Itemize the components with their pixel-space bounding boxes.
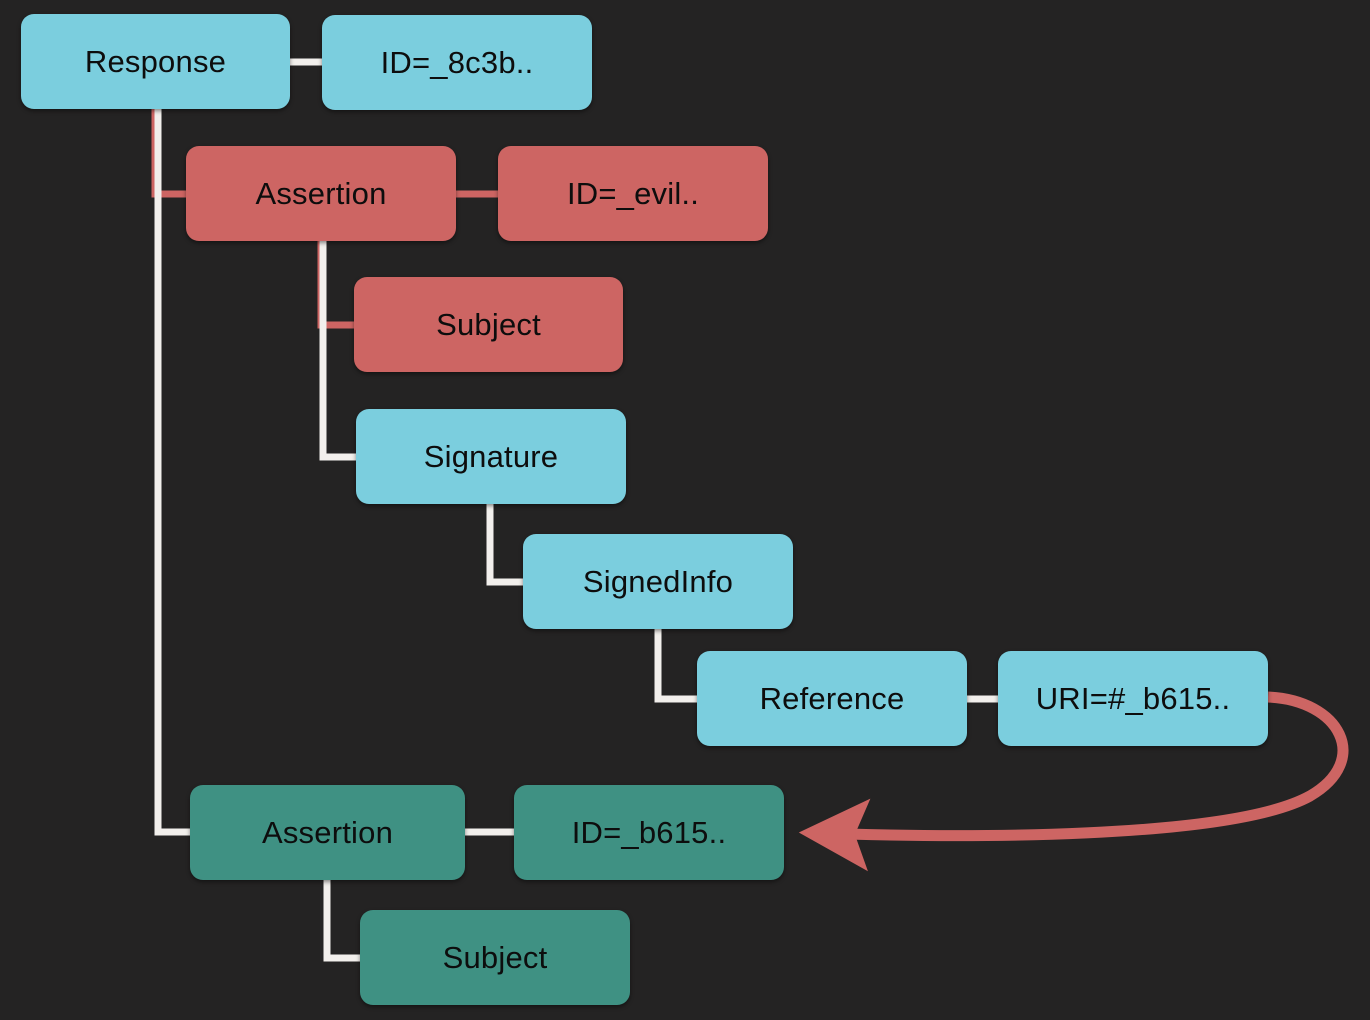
node-response_id[interactable]: ID=_8c3b.. bbox=[322, 15, 592, 110]
node-label-response: Response bbox=[85, 46, 226, 77]
node-subject_evil[interactable]: Subject bbox=[354, 277, 623, 372]
node-reference[interactable]: Reference bbox=[697, 651, 967, 746]
edge-assertion_evil-to-subject bbox=[321, 241, 354, 325]
node-signature[interactable]: Signature bbox=[356, 409, 626, 504]
node-label-response_id: ID=_8c3b.. bbox=[381, 47, 534, 78]
node-response[interactable]: Response bbox=[21, 14, 290, 109]
node-label-signature: Signature bbox=[424, 441, 559, 472]
node-assertion_good_id[interactable]: ID=_b615.. bbox=[514, 785, 784, 880]
node-label-signedinfo: SignedInfo bbox=[583, 566, 733, 597]
node-uri[interactable]: URI=#_b615.. bbox=[998, 651, 1268, 746]
node-subject_good[interactable]: Subject bbox=[360, 910, 630, 1005]
edge-signedinfo-to-reference bbox=[658, 629, 697, 699]
node-signedinfo[interactable]: SignedInfo bbox=[523, 534, 793, 629]
edge-response-to-assertion_evil bbox=[155, 109, 186, 194]
node-label-assertion_evil_id: ID=_evil.. bbox=[567, 178, 699, 209]
node-label-subject_evil: Subject bbox=[436, 309, 541, 340]
node-label-assertion_good_id: ID=_b615.. bbox=[572, 817, 727, 848]
diagram-canvas: ResponseID=_8c3b..AssertionID=_evil..Sub… bbox=[0, 0, 1370, 1020]
edge-assertion_good-to-subject bbox=[327, 880, 360, 958]
node-label-uri: URI=#_b615.. bbox=[1036, 683, 1231, 714]
node-assertion_good[interactable]: Assertion bbox=[190, 785, 465, 880]
node-assertion_evil_id[interactable]: ID=_evil.. bbox=[498, 146, 768, 241]
edge-assertion_evil-to-signature bbox=[323, 241, 356, 457]
node-label-reference: Reference bbox=[760, 683, 905, 714]
node-assertion_evil[interactable]: Assertion bbox=[186, 146, 456, 241]
node-label-assertion_evil: Assertion bbox=[255, 178, 386, 209]
node-label-subject_good: Subject bbox=[443, 942, 548, 973]
node-label-assertion_good: Assertion bbox=[262, 817, 393, 848]
edge-signature-to-signedinfo bbox=[490, 504, 523, 582]
